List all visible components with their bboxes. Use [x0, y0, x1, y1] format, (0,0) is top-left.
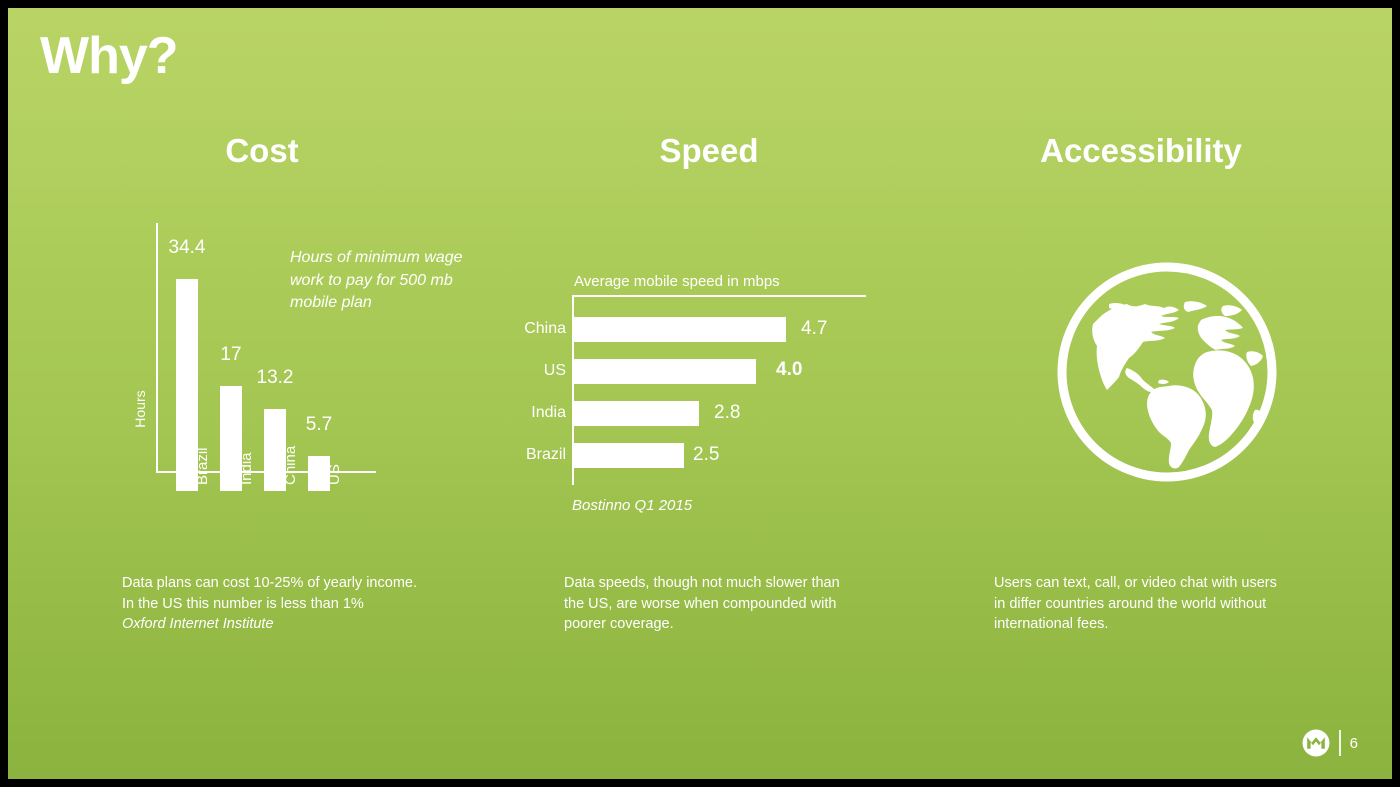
bar-value-india: 17	[207, 344, 255, 366]
speed-chart-source: Bostinno Q1 2015	[572, 497, 692, 514]
cost-chart-y-axis	[156, 223, 158, 473]
bar-value-us-speed: 4.0	[776, 359, 802, 381]
section-heading-cost: Cost	[112, 132, 412, 170]
slide-footer: 6	[1302, 729, 1358, 757]
bar-value-brazil: 34.4	[163, 237, 211, 259]
bar-value-china: 13.2	[251, 367, 299, 389]
speed-chart-top-rule	[572, 295, 866, 297]
footer-divider	[1339, 730, 1341, 756]
caption-accessibility-line-3: international fees.	[994, 616, 1108, 632]
bar-label-china-speed: China	[508, 320, 566, 338]
slide-canvas: Why? Cost Speed Accessibility Hours 34.4…	[8, 8, 1392, 779]
bar-label-brazil: Brazil	[194, 447, 211, 485]
cost-chart-y-axis-label: Hours	[132, 349, 148, 469]
caption-cost: Data plans can cost 10-25% of yearly inc…	[122, 573, 452, 635]
caption-cost-line-2: In the US this number is less than 1%	[122, 596, 364, 612]
bar-us-speed	[574, 359, 756, 384]
bar-value-india-speed: 2.8	[714, 402, 740, 424]
page-number: 6	[1350, 735, 1358, 752]
bar-india-speed	[574, 401, 699, 426]
bar-brazil-speed	[574, 443, 684, 468]
bar-label-india-speed: India	[508, 404, 566, 422]
page-title: Why?	[40, 26, 178, 86]
motorola-m-logo	[1302, 729, 1330, 757]
speed-bar-chart: Average mobile speed in mbps China 4.7 U…	[508, 273, 908, 513]
bar-value-china-speed: 4.7	[801, 318, 827, 340]
bar-label-india: India	[238, 452, 255, 485]
bar-value-us: 5.7	[295, 414, 343, 436]
bar-value-brazil-speed: 2.5	[693, 444, 719, 466]
section-heading-speed: Speed	[559, 132, 859, 170]
caption-cost-source: Oxford Internet Institute	[122, 614, 452, 635]
bar-label-china: China	[282, 446, 299, 485]
caption-accessibility: Users can text, call, or video chat with…	[994, 573, 1324, 635]
caption-speed-line-2: the US, are worse when compounded with	[564, 596, 836, 612]
caption-speed-line-1: Data speeds, though not much slower than	[564, 575, 840, 591]
bar-label-brazil-speed: Brazil	[508, 446, 566, 464]
caption-cost-line-1: Data plans can cost 10-25% of yearly inc…	[122, 575, 417, 591]
section-heading-accessibility: Accessibility	[991, 132, 1291, 170]
cost-chart-annotation: Hours of minimum wage work to pay for 50…	[290, 247, 470, 315]
caption-speed-line-3: poorer coverage.	[564, 616, 674, 632]
globe-icon	[1055, 260, 1279, 484]
bar-china-speed	[574, 317, 786, 342]
caption-accessibility-line-1: Users can text, call, or video chat with…	[994, 575, 1277, 591]
bar-label-us-speed: US	[508, 362, 566, 380]
bar-label-us: US	[326, 464, 343, 485]
caption-speed: Data speeds, though not much slower than…	[564, 573, 894, 635]
caption-accessibility-line-2: in differ countries around the world wit…	[994, 596, 1266, 612]
speed-chart-title: Average mobile speed in mbps	[574, 273, 780, 290]
